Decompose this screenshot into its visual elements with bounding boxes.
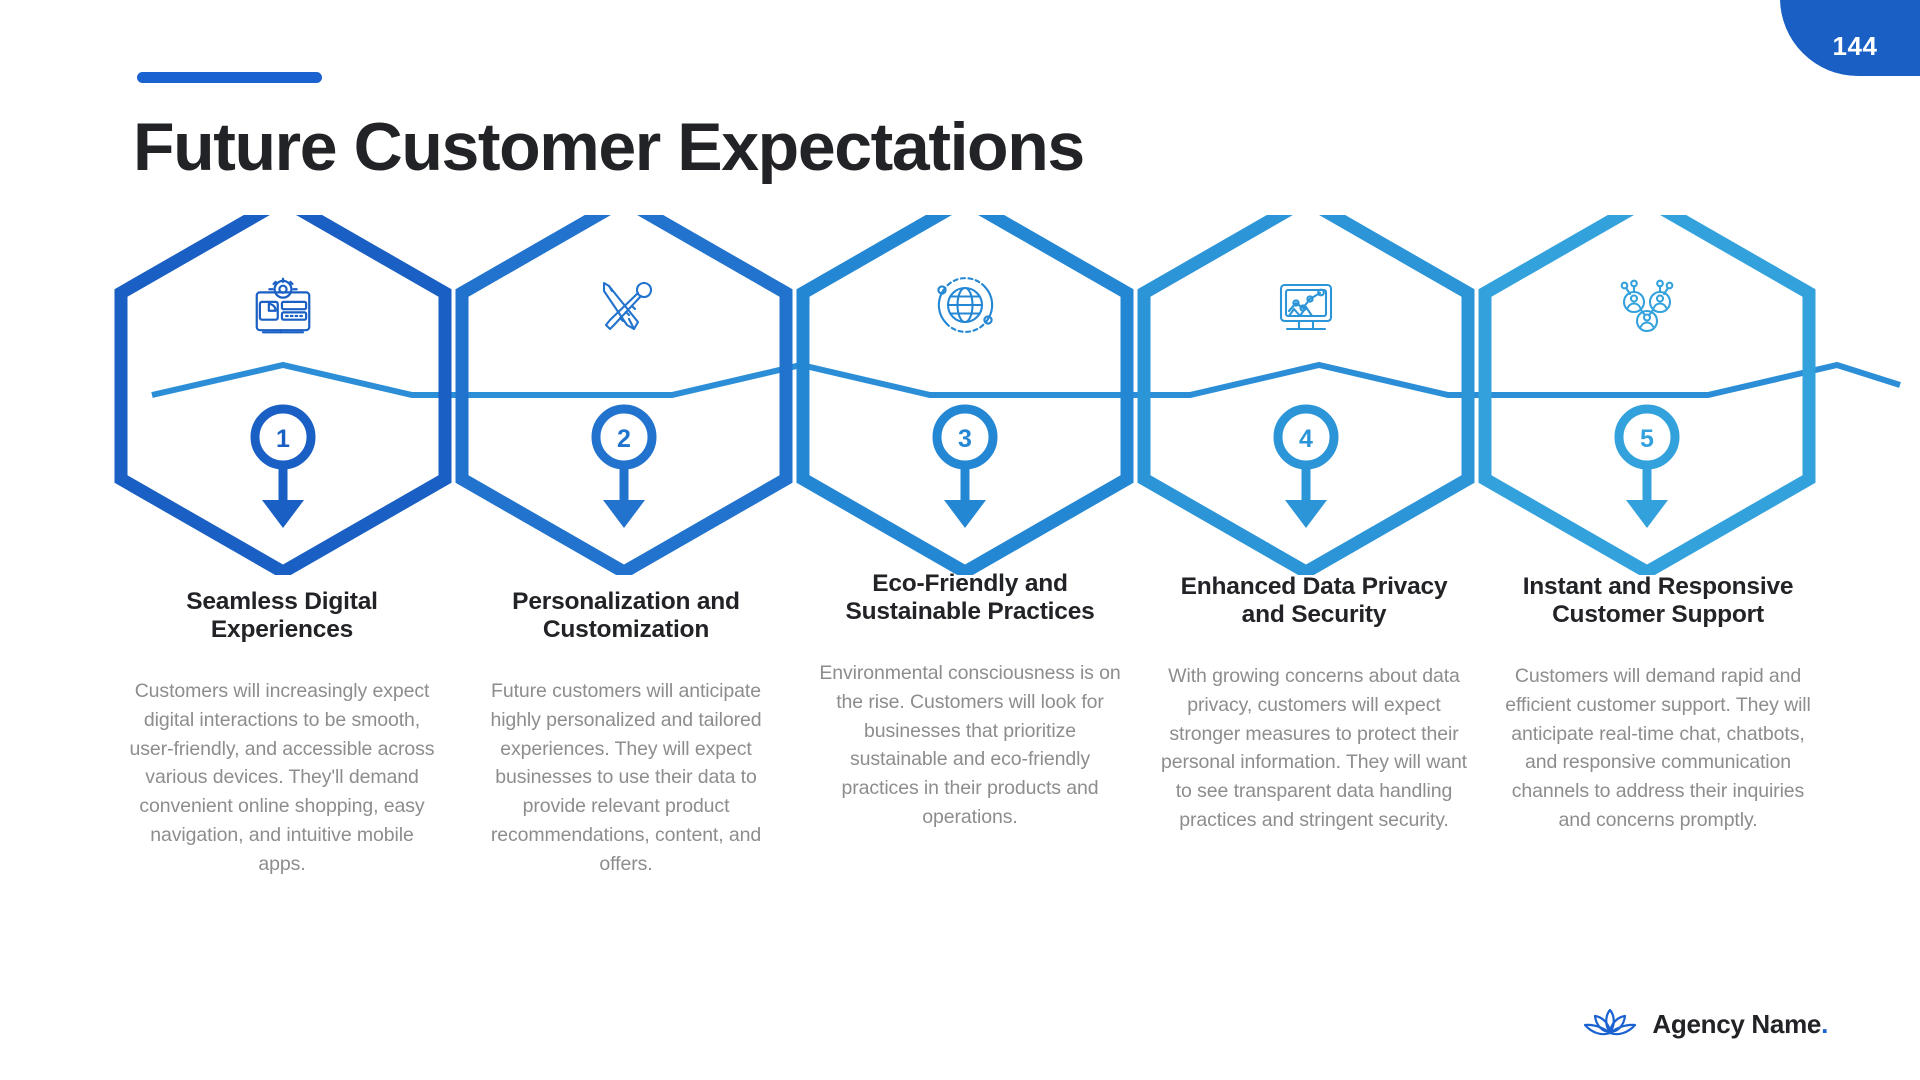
step-number-1: 1 — [276, 425, 290, 453]
page-number-badge: 144 — [1780, 0, 1920, 76]
down-arrow-2 — [603, 500, 645, 528]
step-number-4: 4 — [1299, 425, 1313, 453]
step-column-5: Instant and Responsive Customer Support … — [1486, 570, 1830, 879]
step-title-5: Instant and Responsive Customer Support — [1502, 573, 1814, 630]
down-arrow-5 — [1626, 500, 1668, 528]
users-network-icon — [1622, 281, 1673, 331]
agency-name-dot: . — [1821, 1009, 1828, 1039]
step-number-3: 3 — [958, 425, 972, 453]
page-title: Future Customer Expectations — [133, 108, 1084, 186]
step-title-3: Eco-Friendly and Sustainable Practices — [814, 570, 1126, 627]
slide-root: 144 Future Customer Expectations — [0, 0, 1920, 1080]
step-column-3: Eco-Friendly and Sustainable Practices E… — [798, 570, 1142, 879]
pencil-ruler-icon — [604, 283, 651, 329]
step-title-1: Seamless Digital Experiences — [126, 588, 438, 645]
page-number-label: 144 — [1833, 31, 1878, 62]
process-diagram: 1 2 — [0, 215, 1920, 575]
down-arrow-3 — [944, 500, 986, 528]
step-body-4: With growing concerns about data privacy… — [1158, 662, 1470, 835]
step-body-2: Future customers will anticipate highly … — [470, 677, 782, 879]
down-arrow-1 — [262, 500, 304, 528]
down-arrow-4 — [1285, 500, 1327, 528]
connector-path — [152, 365, 1900, 395]
step-body-5: Customers will demand rapid and efficien… — [1502, 662, 1814, 835]
step-column-4: Enhanced Data Privacy and Security With … — [1142, 570, 1486, 879]
step-body-1: Customers will increasingly expect digit… — [126, 677, 438, 879]
monitor-chart-icon — [1281, 285, 1331, 329]
step-title-2: Personalization and Customization — [470, 588, 782, 645]
footer-branding: Agency Name. — [1582, 1004, 1828, 1044]
dashboard-gear-icon — [257, 279, 310, 333]
step-number-5: 5 — [1640, 425, 1654, 453]
step-body-3: Environmental consciousness is on the ri… — [814, 659, 1126, 832]
agency-name-text: Agency Name — [1652, 1009, 1821, 1039]
step-number-2: 2 — [617, 425, 631, 453]
globe-network-icon — [938, 278, 992, 332]
step-column-2: Personalization and Customization Future… — [454, 570, 798, 879]
lotus-logo-icon — [1582, 1004, 1638, 1044]
step-column-1: Seamless Digital Experiences Customers w… — [110, 570, 454, 879]
agency-name: Agency Name. — [1652, 1009, 1828, 1040]
title-accent-rule — [137, 72, 322, 83]
step-text-columns: Seamless Digital Experiences Customers w… — [110, 570, 1830, 879]
step-title-4: Enhanced Data Privacy and Security — [1158, 573, 1470, 630]
